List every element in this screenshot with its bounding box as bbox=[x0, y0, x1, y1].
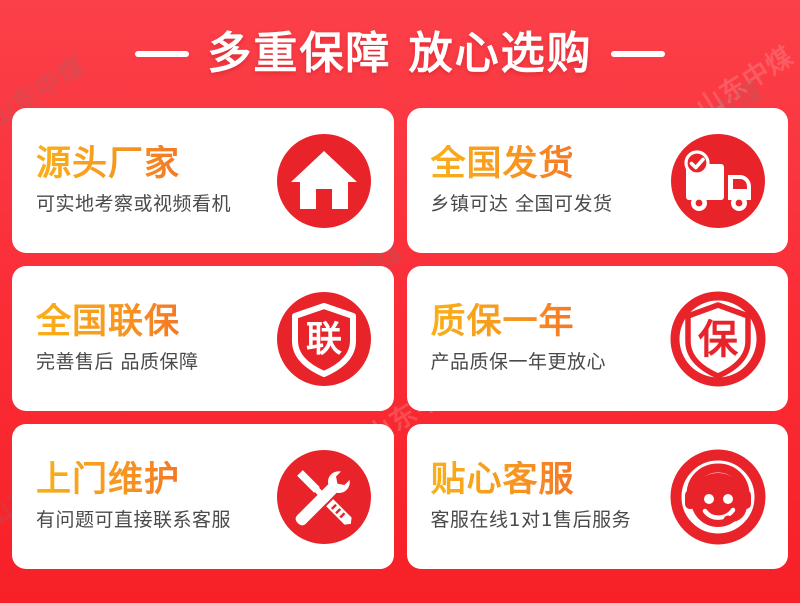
banner-title: 多重保障 放心选购 bbox=[207, 32, 592, 76]
feature-card-text: 质保一年 产品质保一年更放心 bbox=[431, 303, 667, 374]
feature-card[interactable]: 上门维护 有问题可直接联系客服 bbox=[12, 424, 394, 569]
feature-card-title: 全国发货 bbox=[431, 145, 667, 184]
feature-card-text: 贴心客服 客服在线1对1售后服务 bbox=[431, 461, 667, 532]
feature-card-subtitle: 可实地考察或视频看机 bbox=[36, 193, 272, 216]
feature-card-subtitle: 产品质保一年更放心 bbox=[431, 351, 667, 374]
feature-card-subtitle: 有问题可直接联系客服 bbox=[36, 509, 272, 532]
promo-banner: 山东中煤 山东中煤 山东中煤 山东中煤 山东中煤 山东中煤 多重保障 放心选购 … bbox=[0, 0, 800, 603]
feature-card-subtitle: 完善售后 品质保障 bbox=[36, 351, 272, 374]
shield-bao-icon: 保 bbox=[666, 287, 770, 391]
dash-right-icon bbox=[611, 51, 665, 57]
feature-card[interactable]: 全国发货 乡镇可达 全国可发货 bbox=[407, 108, 789, 253]
feature-card-text: 源头厂家 可实地考察或视频看机 bbox=[36, 145, 272, 216]
dash-left-icon bbox=[135, 51, 189, 57]
feature-card-grid: 源头厂家 可实地考察或视频看机 全国发货 乡镇可达 全国可发货 bbox=[0, 108, 800, 569]
feature-card-title: 源头厂家 bbox=[36, 145, 272, 184]
feature-card-subtitle: 乡镇可达 全国可发货 bbox=[431, 193, 667, 216]
feature-card[interactable]: 贴心客服 客服在线1对1售后服务 bbox=[407, 424, 789, 569]
feature-card-text: 上门维护 有问题可直接联系客服 bbox=[36, 461, 272, 532]
feature-card-title: 贴心客服 bbox=[431, 461, 667, 500]
house-icon bbox=[272, 129, 376, 233]
truck-icon bbox=[666, 129, 770, 233]
feature-card-title: 全国联保 bbox=[36, 303, 272, 342]
feature-card-text: 全国联保 完善售后 品质保障 bbox=[36, 303, 272, 374]
feature-card-title: 上门维护 bbox=[36, 461, 272, 500]
shield-glyph: 保 bbox=[698, 317, 739, 363]
feature-card-subtitle: 客服在线1对1售后服务 bbox=[431, 509, 667, 532]
feature-card-title: 质保一年 bbox=[431, 303, 667, 342]
feature-card[interactable]: 质保一年 产品质保一年更放心 保 bbox=[407, 266, 789, 411]
banner-header: 多重保障 放心选购 bbox=[0, 0, 800, 108]
shield-glyph: 联 bbox=[305, 319, 341, 360]
feature-card[interactable]: 全国联保 完善售后 品质保障 联 bbox=[12, 266, 394, 411]
headset-support-icon bbox=[666, 445, 770, 549]
feature-card-text: 全国发货 乡镇可达 全国可发货 bbox=[431, 145, 667, 216]
feature-card[interactable]: 源头厂家 可实地考察或视频看机 bbox=[12, 108, 394, 253]
shield-lian-icon: 联 bbox=[272, 287, 376, 391]
tools-icon bbox=[272, 445, 376, 549]
